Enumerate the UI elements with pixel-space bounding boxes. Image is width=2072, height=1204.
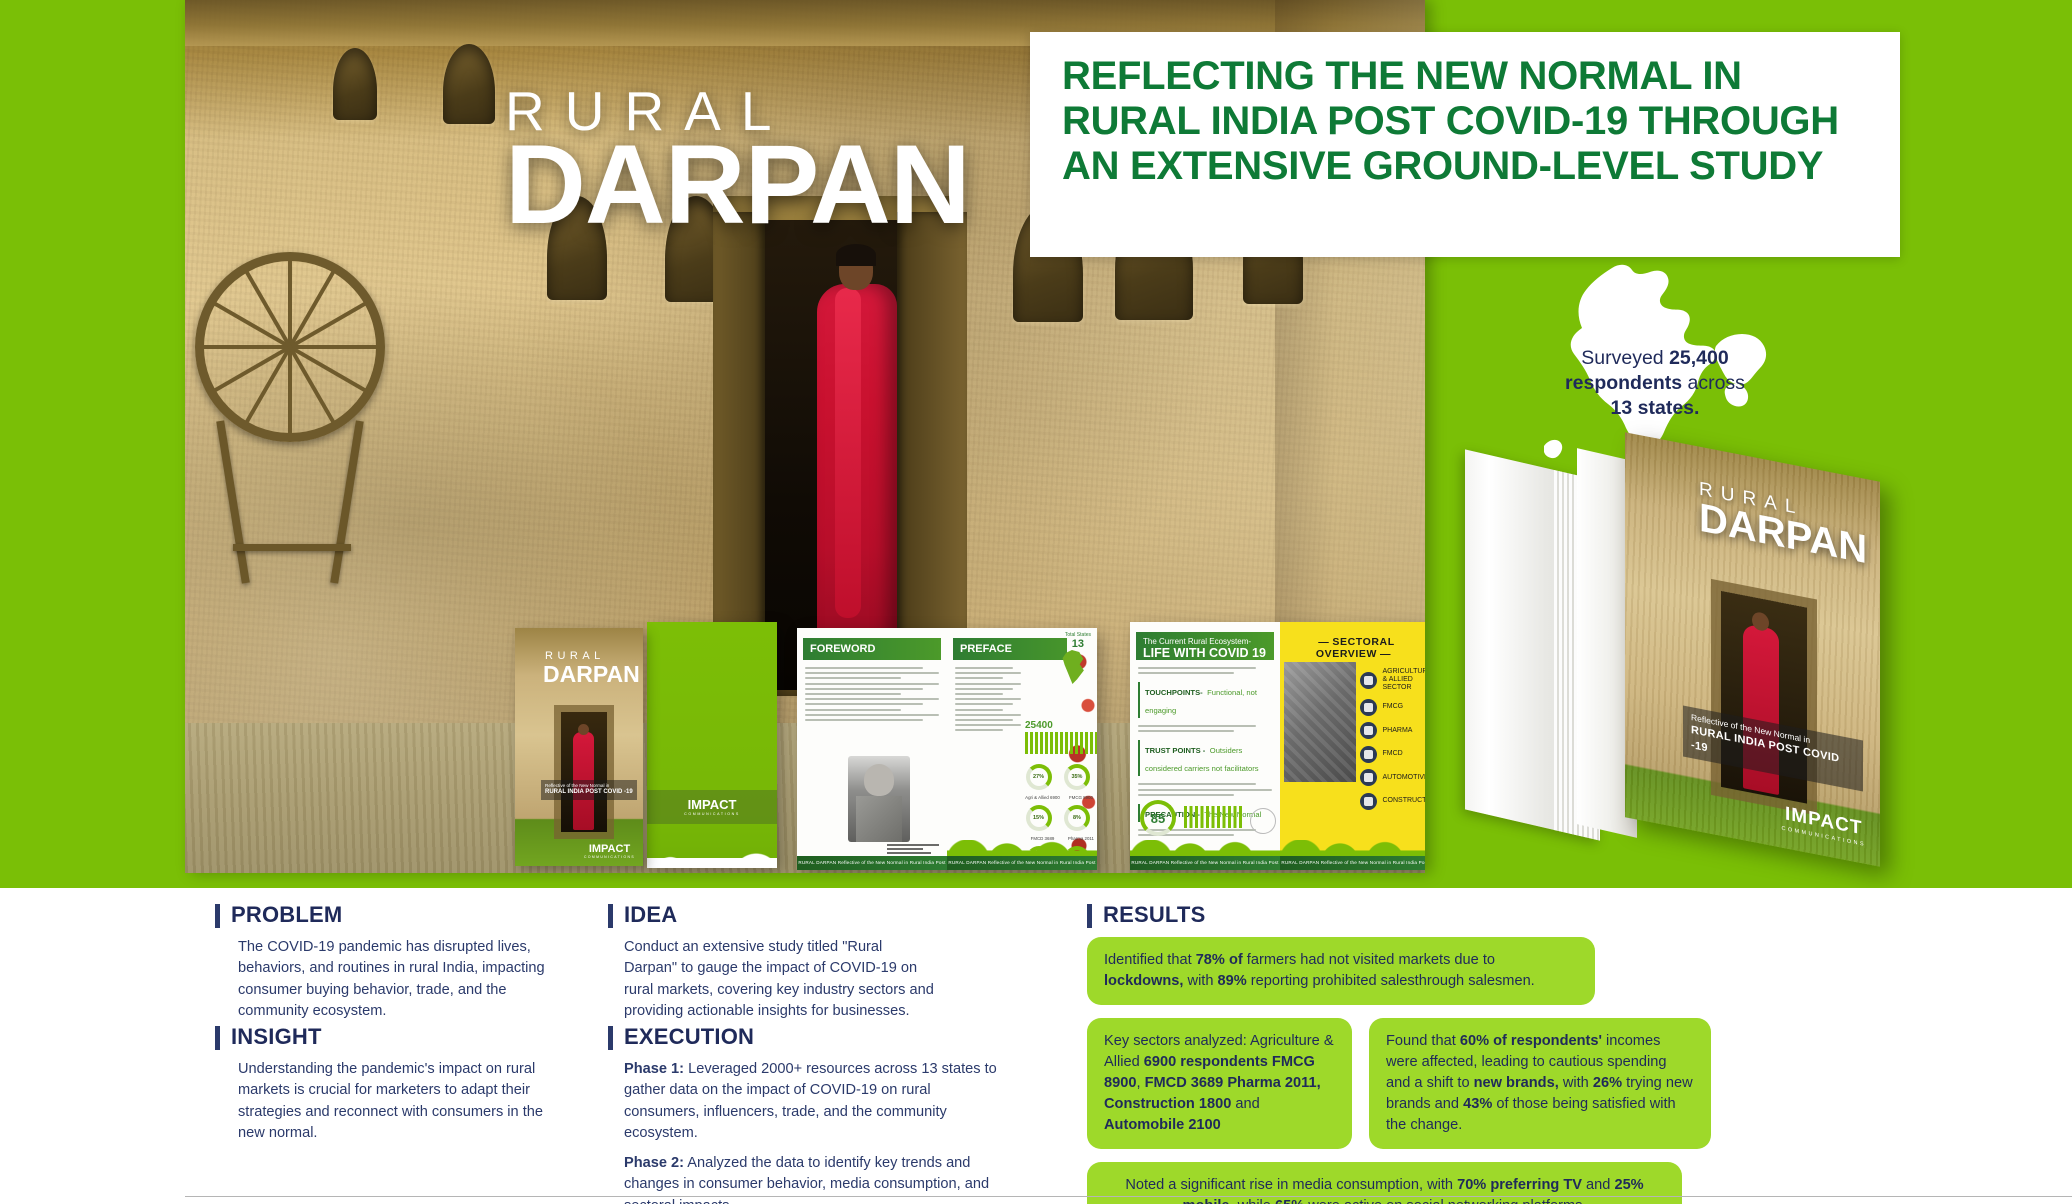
- page-header: FOREWORD: [803, 638, 941, 660]
- village-skyline-graphic: [1130, 840, 1280, 856]
- section-body: Conduct an extensive study titled "Rural…: [608, 937, 938, 1022]
- hair: [836, 244, 876, 266]
- section-results: RESULTS Identified that 78% of farmers h…: [1087, 904, 1727, 1204]
- bottom-content: PROBLEM The COVID-19 pandemic has disrup…: [0, 888, 2072, 1204]
- result-callout-incomes: Found that 60% of respondents' incomes w…: [1369, 1018, 1711, 1149]
- section-insight: INSIGHT Understanding the pandemic's imp…: [215, 1026, 555, 1144]
- section-heading: PROBLEM: [215, 904, 545, 928]
- body-text-lines: [805, 667, 939, 721]
- section-title: EXECUTION: [624, 1026, 754, 1048]
- wheel-base: [233, 544, 351, 551]
- accent-bar: [608, 904, 613, 928]
- section-heading: IDEA: [608, 904, 938, 928]
- woman-in-doorway: [809, 248, 905, 688]
- page-header: The Current Rural Ecosystem- LIFE WITH C…: [1136, 632, 1274, 660]
- section-body: Understanding the pandemic's impact on r…: [215, 1059, 555, 1144]
- book-front-cover: RURAL DARPAN Reflective of the New Norma…: [1625, 432, 1880, 867]
- sector-row: PHARMA: [1360, 722, 1425, 739]
- page-header: SECTORAL OVERVIEW: [1286, 636, 1424, 660]
- total-states-stat: Total States 13: [1065, 632, 1091, 650]
- sector-label: PHARMA: [1383, 727, 1413, 735]
- phase-1-paragraph: Phase 1: Leveraged 2000+ resources acros…: [624, 1059, 998, 1144]
- publisher-logo: IMPACT COMMUNICATIONS: [647, 797, 777, 816]
- construction-icon: [1360, 793, 1377, 810]
- block-title: TRUST POINTS -: [1145, 746, 1205, 755]
- sector-label: AGRICULTURE & ALLIED SECTOR: [1383, 668, 1426, 692]
- fmcg-icon: [1360, 699, 1377, 716]
- author-portrait: [848, 756, 910, 842]
- sector-label: AUTOMOTIVE: [1383, 774, 1426, 782]
- block-title: TOUCHPOINTS-: [1145, 688, 1203, 697]
- page-footer: RURAL DARPAN Reflective of the New Norma…: [797, 856, 947, 870]
- section-heading: INSIGHT: [215, 1026, 555, 1050]
- respondents-number: 25400: [1025, 720, 1053, 731]
- page-preface: PREFACE Total States 13 25400 27%Agri & …: [947, 628, 1097, 870]
- publisher-logo-text: IMPACT: [647, 797, 777, 812]
- section-execution: EXECUTION Phase 1: Leveraged 2000+ resou…: [608, 1026, 998, 1204]
- trust-points-heading: TRUST POINTS - Outsiders considered carr…: [1138, 740, 1272, 776]
- section-body: The COVID-19 pandemic has disrupted live…: [215, 937, 545, 1022]
- book-spread-ecosystem-sectoral: The Current Rural Ecosystem- LIFE WITH C…: [1130, 622, 1425, 870]
- accent-bar: [608, 1026, 613, 1050]
- sector-donut: 35%FMCG 8900: [1064, 764, 1090, 790]
- publisher-logo: IMPACT COMMUNICATIONS: [584, 843, 635, 859]
- touchpoints-heading: TOUCHPOINTS- Functional, not engaging: [1138, 682, 1272, 718]
- author-signature: [887, 844, 939, 856]
- footer-divider: [185, 1196, 2072, 1197]
- book-3d-mockup: RURAL DARPAN Reflective of the New Norma…: [1465, 455, 1865, 855]
- sector-row: FMCG: [1360, 699, 1425, 716]
- sector-label: CONSTRUCTION: [1383, 797, 1426, 805]
- page-header-kicker: The Current Rural Ecosystem-: [1143, 637, 1251, 646]
- sector-collage-image: [1284, 662, 1356, 782]
- donut-value: 27%: [1030, 774, 1048, 780]
- automotive-icon: [1360, 769, 1377, 786]
- body-text-lines: [1138, 783, 1272, 795]
- cover-subtitle-bold: RURAL INDIA POST COVID -19: [545, 789, 633, 795]
- section-body: Phase 1: Leveraged 2000+ resources acros…: [608, 1059, 998, 1204]
- kpi-ring-value: 85: [1140, 800, 1176, 836]
- donut-label: Agri & Allied 6900: [1024, 795, 1062, 800]
- book-back-cover: IMPACT COMMUNICATIONS: [647, 622, 777, 868]
- hero-section: IMPACT COMMUNICATIONS RURAL DARPAN Refle…: [0, 0, 2072, 888]
- cover-subtitle: Reflective of the New Normal in RURAL IN…: [541, 780, 637, 800]
- page-footer: RURAL DARPAN Reflective of the New Norma…: [1130, 856, 1280, 870]
- headline-text: REFLECTING THE NEW NORMAL IN RURAL INDIA…: [1062, 54, 1874, 190]
- wheel-leg: [330, 420, 364, 583]
- book-spread-foreword-preface: FOREWORD RURAL DARPAN Reflective of the …: [797, 628, 1097, 870]
- accent-bar: [215, 1026, 220, 1050]
- section-heading: EXECUTION: [608, 1026, 998, 1050]
- result-callout-media: Noted a significant rise in media consum…: [1087, 1162, 1682, 1204]
- pharma-icon: [1360, 722, 1377, 739]
- cover-subtitle-small: Reflective of the New Normal in: [545, 783, 609, 788]
- wheel-leg: [216, 420, 250, 583]
- poster-title-lockup: RURAL DARPAN: [505, 84, 970, 236]
- book-front-cover: RURAL DARPAN Reflective of the New Norma…: [515, 628, 643, 866]
- village-skyline-graphic: [947, 840, 1097, 856]
- section-heading: RESULTS: [1087, 904, 1727, 928]
- respondents-bar-graphic: [1025, 732, 1097, 754]
- section-title: IDEA: [624, 904, 677, 926]
- donut-label: FMCG 8900: [1062, 795, 1097, 800]
- survey-stat-text: Surveyed 25,400respondents across13 stat…: [1550, 346, 1760, 421]
- sector-donut: 8%Pharma 2011: [1064, 805, 1090, 831]
- publisher-logo-subtext: COMMUNICATIONS: [584, 855, 635, 859]
- spinning-wheel: [195, 252, 405, 582]
- page-sectoral-overview: SECTORAL OVERVIEW AGRICULTURE & ALLIED S…: [1280, 622, 1425, 870]
- door-panel-left: [713, 212, 765, 692]
- sector-row: FMCD: [1360, 746, 1425, 763]
- india-map-graphic: Surveyed 25,400respondents across13 stat…: [1520, 250, 1820, 470]
- sector-row: AGRICULTURE & ALLIED SECTOR: [1360, 668, 1425, 692]
- publisher-logo-subtext: COMMUNICATIONS: [647, 812, 777, 816]
- section-title: RESULTS: [1103, 904, 1205, 926]
- door-panel-right: [897, 212, 967, 692]
- section-title: INSIGHT: [231, 1026, 322, 1048]
- donut-value: 8%: [1068, 815, 1086, 821]
- donut-value: 15%: [1030, 815, 1048, 821]
- brand-line-darpan: DARPAN: [505, 133, 970, 236]
- page-footer: RURAL DARPAN Reflective of the New Norma…: [1280, 856, 1425, 870]
- sector-label: FMCD: [1383, 750, 1403, 758]
- fmcd-icon: [1360, 746, 1377, 763]
- printed-book-pair: IMPACT COMMUNICATIONS RURAL DARPAN Refle…: [515, 622, 795, 873]
- sector-row: AUTOMOTIVE: [1360, 769, 1425, 786]
- publisher-logo-text: IMPACT: [584, 843, 635, 855]
- agriculture-icon: [1360, 672, 1377, 689]
- section-idea: IDEA Conduct an extensive study titled "…: [608, 904, 938, 1022]
- cover-title-main: DARPAN: [543, 661, 640, 688]
- result-callout-row: Key sectors analyzed: Agriculture & Alli…: [1087, 1018, 1727, 1149]
- village-skyline-graphic: [1280, 840, 1425, 856]
- sector-row: CONSTRUCTION: [1360, 793, 1425, 810]
- total-states-value: 13: [1065, 638, 1091, 650]
- accent-bar: [215, 904, 220, 928]
- result-callout-lockdowns: Identified that 78% of farmers had not v…: [1087, 937, 1595, 1005]
- donut-value: 35%: [1068, 774, 1086, 780]
- body-text-lines: [1138, 667, 1272, 674]
- headline-panel: REFLECTING THE NEW NORMAL IN RURAL INDIA…: [1030, 32, 1900, 257]
- seal-icon: [1250, 808, 1276, 834]
- result-callout-sectors: Key sectors analyzed: Agriculture & Alli…: [1087, 1018, 1352, 1149]
- body-text-lines: [1138, 725, 1272, 732]
- body-text-lines: [955, 667, 1021, 731]
- phase-2-label: Phase 2:: [624, 1155, 684, 1171]
- village-skyline-graphic: [647, 842, 777, 868]
- section-title: PROBLEM: [231, 904, 342, 926]
- sector-list: AGRICULTURE & ALLIED SECTOR FMCG PHARMA: [1360, 668, 1425, 810]
- section-problem: PROBLEM The COVID-19 pandemic has disrup…: [215, 904, 545, 1022]
- page-footer: RURAL DARPAN Reflective of the New Norma…: [947, 856, 1097, 870]
- accent-bar: [1087, 904, 1092, 928]
- phase-1-label: Phase 1:: [624, 1061, 684, 1077]
- saree-drape: [835, 288, 861, 618]
- sector-donut: 27%Agri & Allied 6900: [1026, 764, 1052, 790]
- sector-label: FMCG: [1383, 703, 1404, 711]
- page-foreword: FOREWORD RURAL DARPAN Reflective of the …: [797, 628, 947, 870]
- sector-donut: 15%FMCD 3689: [1026, 805, 1052, 831]
- page-header-title: LIFE WITH COVID 19: [1143, 646, 1267, 660]
- page-life-with-covid: The Current Rural Ecosystem- LIFE WITH C…: [1130, 622, 1280, 870]
- kpi-bar-graphic: [1184, 806, 1242, 828]
- poster-page: IMPACT COMMUNICATIONS RURAL DARPAN Refle…: [0, 0, 2072, 1204]
